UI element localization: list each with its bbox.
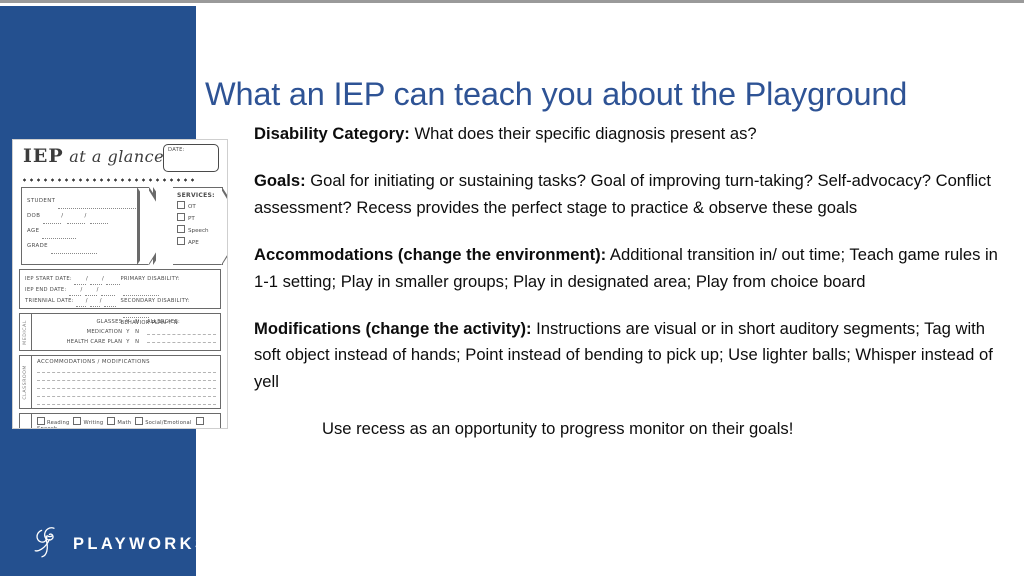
iep-field-label: GRADE — [27, 243, 48, 249]
slide-canvas: What an IEP can teach you about the Play… — [0, 0, 1024, 576]
iep-medical-label: MEDICATION — [87, 329, 123, 335]
iep-allergies-area: ALLERGIES: — [141, 317, 216, 347]
iep-date-field: IEP END DATE:// — [25, 285, 121, 296]
paragraph-accommodations: Accommodations (change the environment):… — [254, 242, 1006, 295]
iep-medical-body: GLASSESY N MEDICATIONY N HEALTH CARE PLA… — [32, 314, 220, 350]
blank-line — [67, 215, 85, 224]
iep-service-label: PT — [188, 216, 195, 222]
iep-goal-checkbox-row: ReadingWritingMathSocial/EmotionalSpeech — [37, 417, 216, 429]
paragraph-lead-label: Goals: — [254, 171, 306, 190]
iep-medical-row: GLASSESY N — [37, 317, 141, 327]
iep-service-label: OT — [188, 204, 196, 210]
iep-medical-grid: GLASSESY N MEDICATIONY N HEALTH CARE PLA… — [37, 317, 216, 347]
iep-field-label: IEP END DATE: — [25, 287, 67, 293]
blank-line — [106, 277, 120, 285]
iep-section-tab: GOALS — [20, 414, 32, 429]
blank-line — [147, 342, 216, 343]
checkbox-icon[interactable] — [37, 417, 45, 425]
blank-line — [51, 245, 97, 254]
paragraph-lead-label: Disability Category: — [254, 124, 410, 143]
iep-medical-row: HEALTH CARE PLANY N — [37, 337, 141, 347]
iep-service-option: APE — [177, 237, 222, 249]
iep-medical-yesno[interactable]: Y N — [126, 339, 141, 345]
iep-field-grade: GRADE — [27, 239, 149, 254]
iep-student-info-arrow: STUDENT DOB// AGE GRADE — [21, 187, 149, 265]
iep-field-label: TRIENNIAL DATE: — [25, 298, 74, 304]
iep-date-box: DATE: — [163, 144, 219, 172]
iep-medical-section: MEDICAL GLASSESY N MEDICATIONY N HEALTH … — [19, 313, 221, 351]
iep-field-label: SECONDARY DISABILITY: — [121, 298, 190, 304]
iep-field-age: AGE — [27, 224, 149, 239]
iep-services-title: SERVICES: — [173, 188, 222, 201]
checkbox-icon[interactable] — [177, 213, 185, 221]
iep-field-label: PRIMARY DISABILITY: — [121, 276, 180, 282]
blank-line — [85, 288, 97, 296]
iep-section-tab-label: CLASSROOM — [23, 365, 28, 400]
iep-date-field: TRIENNIAL DATE:// — [25, 296, 121, 307]
blank-line — [37, 404, 216, 405]
iep-service-option: PT — [177, 213, 222, 225]
iep-date-label: DATE: — [168, 147, 185, 153]
iep-medical-label: GLASSES — [96, 319, 122, 325]
paragraph-body-text: What does their specific diagnosis prese… — [410, 124, 757, 143]
page-title: What an IEP can teach you about the Play… — [205, 73, 1015, 115]
iep-dotted-divider — [21, 177, 197, 183]
iep-service-label: Speech — [188, 228, 209, 234]
playworks-logo: PLAYWORKS — [32, 525, 209, 564]
iep-goal-label: Social/Emotional — [145, 420, 191, 426]
iep-services-box: SERVICES: OT PT Speech APE — [173, 187, 223, 265]
closing-statement: Use recess as an opportunity to progress… — [254, 416, 1006, 442]
blank-line — [90, 277, 102, 285]
iep-goal-label: Speech — [37, 426, 57, 429]
iep-service-option: Speech — [177, 225, 222, 237]
iep-medical-questions: GLASSESY N MEDICATIONY N HEALTH CARE PLA… — [37, 317, 141, 347]
iep-field-label: IEP START DATE: — [25, 276, 72, 282]
iep-title-phrase: at a glance — [69, 147, 164, 166]
iep-title-acronym: IEP — [23, 145, 64, 167]
iep-goal-label: Writing — [83, 420, 103, 426]
iep-section-tab-label: MEDICAL — [23, 320, 28, 345]
blank-line — [74, 277, 86, 285]
iep-field-label: AGE — [27, 228, 39, 234]
iep-allergies-label: ALLERGIES: — [147, 317, 216, 327]
checkbox-icon[interactable] — [135, 417, 143, 425]
iep-medical-yesno[interactable]: Y N — [126, 329, 141, 335]
iep-goal-label: Math — [117, 420, 131, 426]
iep-student-fields: STUDENT DOB// AGE GRADE — [22, 188, 149, 254]
iep-field-label: DOB — [27, 213, 40, 219]
body-text-block: Disability Category: What does their spe… — [254, 121, 1006, 443]
checkbox-icon[interactable] — [73, 417, 81, 425]
iep-medical-row: MEDICATIONY N — [37, 327, 141, 337]
checkbox-icon[interactable] — [177, 237, 185, 245]
iep-services-list: OT PT Speech APE — [173, 201, 222, 249]
blank-line — [147, 334, 216, 335]
iep-service-label: APE — [188, 240, 199, 246]
iep-field-label: STUDENT — [27, 198, 55, 204]
blank-line — [37, 388, 216, 389]
blank-line — [43, 215, 61, 224]
iep-dates-disability-row: IEP START DATE:// IEP END DATE:// TRIENN… — [19, 269, 221, 309]
playworks-wordmark: PLAYWORKS — [73, 535, 209, 554]
checkbox-icon[interactable] — [177, 201, 185, 209]
checkbox-icon[interactable] — [177, 225, 185, 233]
paragraph-goals: Goals: Goal for initiating or sustaining… — [254, 168, 1006, 221]
blank-line — [37, 372, 216, 373]
iep-section-tab: CLASSROOM — [20, 356, 32, 408]
blank-line — [76, 299, 86, 307]
iep-field-student: STUDENT — [27, 194, 149, 209]
blank-line — [42, 230, 76, 239]
iep-section-tab: MEDICAL — [20, 314, 32, 350]
blank-line — [104, 299, 116, 307]
iep-date-field: IEP START DATE:// — [25, 274, 121, 285]
iep-service-option: OT — [177, 201, 222, 213]
blank-line — [90, 299, 100, 307]
jump-rope-icon — [32, 525, 64, 564]
iep-medical-label: HEALTH CARE PLAN — [67, 339, 123, 345]
checkbox-icon[interactable] — [196, 417, 204, 425]
iep-field-dob: DOB// — [27, 209, 149, 224]
blank-line — [37, 396, 216, 397]
blank-line — [58, 200, 136, 209]
iep-goals-body: ReadingWritingMathSocial/EmotionalSpeech — [32, 414, 220, 429]
iep-disability-column: PRIMARY DISABILITY: SECONDARY DISABILITY… — [121, 274, 217, 308]
iep-classroom-heading: ACCOMMODATIONS / MODIFICATIONS — [37, 359, 216, 365]
iep-classroom-section: CLASSROOM ACCOMMODATIONS / MODIFICATIONS — [19, 355, 221, 409]
iep-student-services-band: STUDENT DOB// AGE GRADE SERVICES: OT PT … — [19, 187, 221, 265]
iep-medical-yesno[interactable]: Y N — [126, 319, 141, 325]
blank-line — [123, 288, 159, 296]
iep-classroom-body: ACCOMMODATIONS / MODIFICATIONS — [32, 356, 220, 408]
iep-at-a-glance-handout: IEP at a glance DATE: STUDENT DOB// AGE … — [12, 139, 228, 429]
paragraph-lead-label: Accommodations (change the environment): — [254, 245, 606, 264]
paragraph-modifications: Modifications (change the activity): Ins… — [254, 316, 1006, 395]
iep-header-row: IEP at a glance DATE: — [19, 145, 221, 177]
iep-goals-section: GOALS ReadingWritingMathSocial/Emotional… — [19, 413, 221, 429]
blank-line — [90, 215, 108, 224]
paragraph-disability-category: Disability Category: What does their spe… — [254, 121, 1006, 147]
blank-line — [69, 288, 81, 296]
paragraph-lead-label: Modifications (change the activity): — [254, 319, 532, 338]
iep-handout-title: IEP at a glance — [23, 145, 164, 167]
iep-disability-field: PRIMARY DISABILITY: — [121, 274, 217, 296]
blank-line — [101, 288, 115, 296]
checkbox-icon[interactable] — [107, 417, 115, 425]
paragraph-body-text: Goal for initiating or sustaining tasks?… — [254, 171, 991, 216]
blank-line — [37, 380, 216, 381]
iep-dates-column: IEP START DATE:// IEP END DATE:// TRIENN… — [25, 274, 121, 308]
